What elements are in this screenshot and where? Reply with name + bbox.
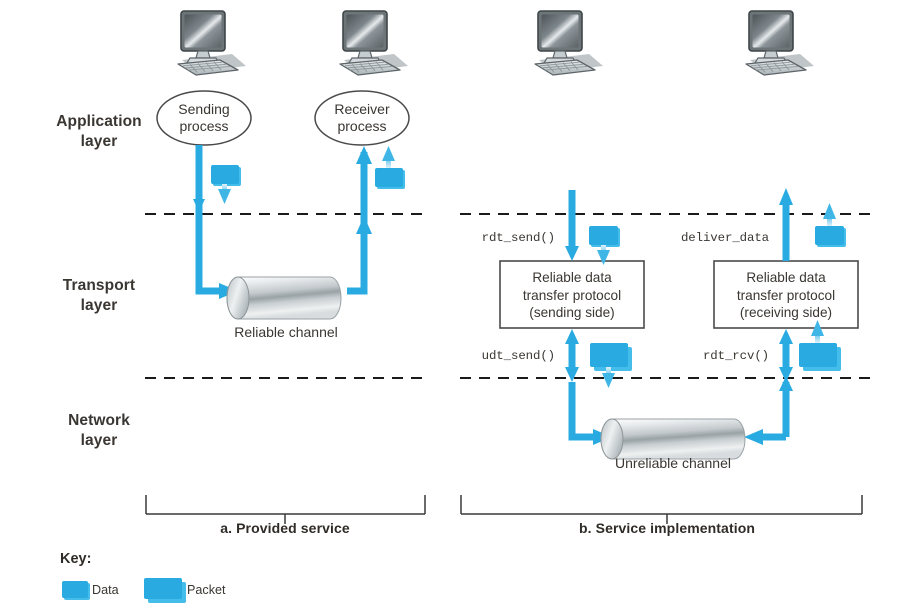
unreliable-channel-label: Unreliable channel (583, 455, 763, 471)
label-rdt-send: rdt_send() (400, 231, 555, 245)
key-swatch-data (62, 581, 90, 600)
sender-protocol-line3: (sending side) (500, 304, 644, 322)
arrowhead-rdt-rcv-up (779, 329, 793, 344)
key-swatch-packet (144, 578, 186, 603)
packet-unit-rdt-rcv (799, 343, 841, 371)
arrowhead-receiver-mid-a (356, 216, 372, 234)
figure-canvas: Application layer Transport layer Networ… (0, 0, 908, 609)
computer-icon-receiver-a (340, 11, 408, 75)
layer-label-transport: Transport layer (46, 276, 152, 316)
layer-label-application-line2: layer (46, 132, 152, 152)
arrowhead-deliver-data (779, 188, 793, 205)
arrowhead-sender-mid-a (193, 199, 205, 212)
packet-arrowhead-udt-send (602, 373, 615, 388)
data-arrowhead-receiver-a (382, 146, 395, 161)
sender-protocol-line2: transfer protocol (500, 287, 644, 305)
layer-label-application: Application layer (46, 112, 152, 152)
sending-process-line2: process (157, 118, 251, 135)
unreliable-channel-cylinder (601, 419, 745, 459)
flow-sender-network-b (572, 382, 596, 437)
computer-icon-receiver-b (746, 11, 814, 75)
receiver-protocol-line2: transfer protocol (714, 287, 858, 305)
arrowhead-udt-send-down (565, 367, 579, 382)
layer-label-transport-line1: Transport (46, 276, 152, 296)
computer-icon-sender-b (535, 11, 603, 75)
sender-protocol-line1: Reliable data (500, 269, 644, 287)
layer-label-transport-line2: layer (46, 296, 152, 316)
computer-icon-sender-a (178, 11, 246, 75)
arrowhead-udt-send-up (565, 329, 579, 344)
layer-label-application-line1: Application (46, 112, 152, 132)
data-arrowhead-sender-a (218, 189, 231, 204)
sending-process-line1: Sending (157, 101, 251, 118)
label-udt-send: udt_send() (400, 349, 555, 363)
sending-process-label: Sending process (157, 101, 251, 135)
caption-panel-a: a. Provided service (165, 520, 405, 536)
key-label-data: Data (92, 583, 119, 597)
layer-label-network-line2: layer (46, 431, 152, 451)
receiver-process-line2: process (315, 118, 409, 135)
label-deliver-data: deliver_data (614, 231, 769, 245)
receiver-protocol-line3: (receiving side) (714, 304, 858, 322)
label-rdt-rcv: rdt_rcv() (614, 349, 769, 363)
arrowhead-rdt-send (565, 246, 579, 261)
data-arrowhead-deliver-data (823, 203, 836, 219)
receiver-process-label: Receiver process (315, 101, 409, 135)
layer-label-network-line1: Network (46, 411, 152, 431)
arrowhead-receiver-top-a (356, 146, 372, 164)
reliable-channel-cylinder (227, 277, 341, 319)
data-unit-sender-a (211, 165, 241, 186)
key-label-packet: Packet (187, 583, 226, 597)
caption-panel-b: b. Service implementation (527, 520, 807, 536)
data-unit-deliver-data (815, 226, 846, 247)
receiver-process-line1: Receiver (315, 101, 409, 118)
arrowhead-into-unreliable-right (744, 429, 763, 445)
sender-protocol-box-label: Reliable data transfer protocol (sending… (500, 269, 644, 322)
receiver-protocol-box-label: Reliable data transfer protocol (receivi… (714, 269, 858, 322)
arrowhead-rdt-rcv-down (779, 367, 793, 382)
key-title: Key: (60, 551, 91, 567)
flow-receiver-a (347, 152, 364, 291)
layer-label-network: Network layer (46, 411, 152, 451)
reliable-channel-label: Reliable channel (196, 324, 376, 340)
receiver-protocol-line1: Reliable data (714, 269, 858, 287)
data-unit-receiver-a (375, 168, 405, 189)
